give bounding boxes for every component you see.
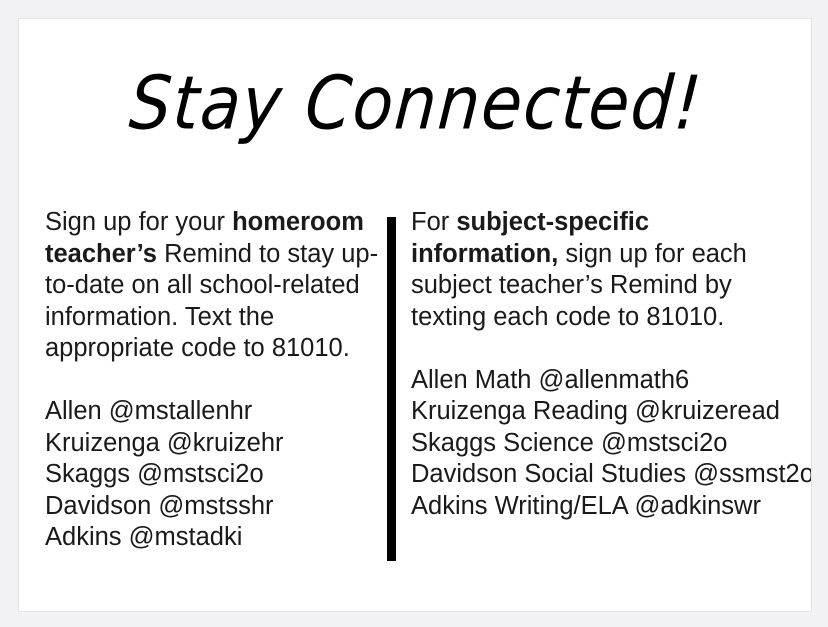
- list-item: Allen Math @allenmath6: [411, 365, 799, 397]
- subject-spacer: [411, 333, 799, 365]
- subject-column: For subject-specific information, sign u…: [411, 207, 799, 522]
- list-item: Davidson Social Studies @ssmst2o: [411, 459, 799, 491]
- subject-intro-prefix: For: [411, 208, 456, 236]
- list-item: Adkins Writing/ELA @adkinswr: [411, 491, 799, 523]
- homeroom-intro-paragraph: Sign up for your homeroom teacher’s Remi…: [45, 207, 385, 365]
- column-divider: [387, 217, 396, 561]
- content-columns: Sign up for your homeroom teacher’s Remi…: [19, 207, 812, 607]
- subject-intro-paragraph: For subject-specific information, sign u…: [411, 207, 799, 333]
- list-item: Davidson @mstsshr: [45, 491, 385, 523]
- page-title: Stay Connected!: [18, 58, 812, 150]
- list-item: Allen @mstallenhr: [45, 396, 385, 428]
- homeroom-spacer: [45, 365, 385, 397]
- list-item: Kruizenga @kruizehr: [45, 428, 385, 460]
- slide-canvas: Stay Connected! Sign up for your homeroo…: [18, 18, 812, 612]
- subject-teacher-list: Allen Math @allenmath6 Kruizenga Reading…: [411, 365, 799, 523]
- homeroom-teacher-list: Allen @mstallenhr Kruizenga @kruizehr Sk…: [45, 396, 385, 554]
- list-item: Skaggs Science @mstsci2o: [411, 428, 799, 460]
- list-item: Skaggs @mstsci2o: [45, 459, 385, 491]
- list-item: Kruizenga Reading @kruizeread: [411, 396, 799, 428]
- homeroom-column: Sign up for your homeroom teacher’s Remi…: [45, 207, 385, 554]
- list-item: Adkins @mstadki: [45, 522, 385, 554]
- homeroom-intro-prefix: Sign up for your: [45, 208, 232, 236]
